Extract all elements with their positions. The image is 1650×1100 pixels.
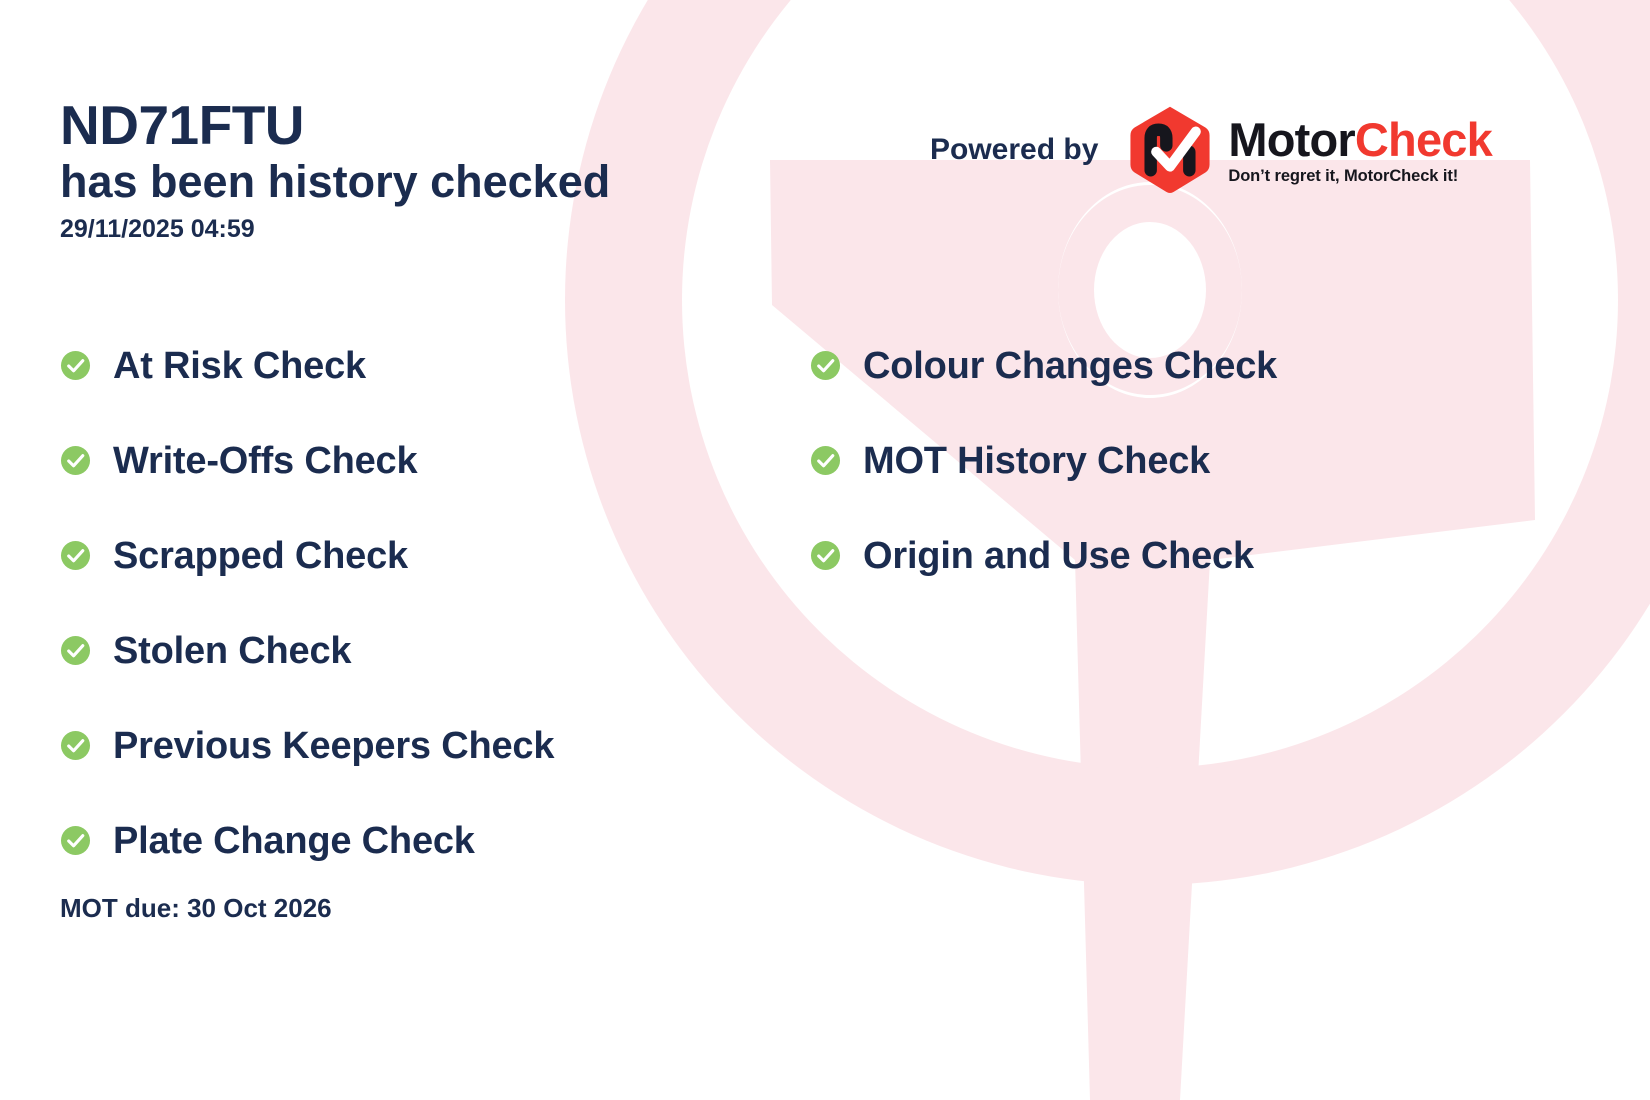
list-item: Origin and Use Check <box>810 508 1277 603</box>
powered-by-label: Powered by <box>930 133 1098 167</box>
check-label: MOT History Check <box>863 442 1210 480</box>
list-item: Scrapped Check <box>60 508 554 603</box>
check-label: Previous Keepers Check <box>113 727 554 765</box>
check-label: At Risk Check <box>113 347 366 385</box>
motorcheck-hexagon-icon <box>1124 104 1216 196</box>
check-label: Scrapped Check <box>113 537 408 575</box>
list-item: Write-Offs Check <box>60 413 554 508</box>
list-item: MOT History Check <box>810 413 1277 508</box>
check-label: Write-Offs Check <box>113 442 417 480</box>
check-circle-icon <box>810 350 841 381</box>
list-item: Colour Changes Check <box>810 318 1277 413</box>
check-timestamp: 29/11/2025 04:59 <box>60 215 610 244</box>
check-circle-icon <box>60 635 91 666</box>
check-label: Stolen Check <box>113 632 351 670</box>
check-label: Origin and Use Check <box>863 537 1254 575</box>
check-circle-icon <box>60 540 91 571</box>
motorcheck-logo[interactable]: MotorCheck Don’t regret it, MotorCheck i… <box>1124 104 1492 196</box>
motorcheck-wordmark: MotorCheck <box>1228 116 1492 163</box>
check-list-right: Colour Changes Check MOT History Check O… <box>810 318 1277 603</box>
check-circle-icon <box>60 350 91 381</box>
powered-by-block: Powered by MotorCheck Don’t regret it, M… <box>930 104 1492 196</box>
check-circle-icon <box>60 730 91 761</box>
list-item: Previous Keepers Check <box>60 698 554 793</box>
wordmark-motor: Motor <box>1228 113 1355 166</box>
headline-block: ND71FTU has been history checked 29/11/2… <box>60 96 610 244</box>
check-circle-icon <box>60 825 91 856</box>
check-list-left: At Risk Check Write-Offs Check Scrapped … <box>60 318 554 888</box>
check-label: Colour Changes Check <box>863 347 1277 385</box>
check-circle-icon <box>810 540 841 571</box>
list-item: Plate Change Check <box>60 793 554 888</box>
list-item: At Risk Check <box>60 318 554 413</box>
page-title-subtitle: has been history checked <box>60 155 610 208</box>
page-title-plate: ND71FTU <box>60 96 610 155</box>
check-label: Plate Change Check <box>113 822 475 860</box>
mot-due-text: MOT due: 30 Oct 2026 <box>60 893 332 924</box>
motorcheck-tagline: Don’t regret it, MotorCheck it! <box>1228 167 1492 186</box>
check-circle-icon <box>810 445 841 476</box>
check-circle-icon <box>60 445 91 476</box>
wordmark-check: Check <box>1355 113 1492 166</box>
list-item: Stolen Check <box>60 603 554 698</box>
